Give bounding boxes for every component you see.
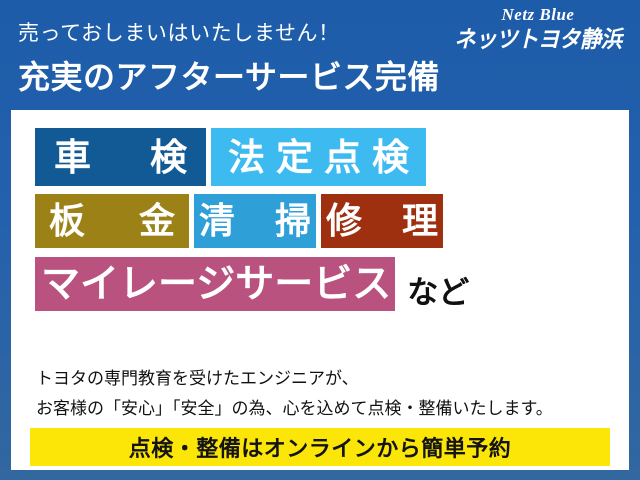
logo-brand-jp: ネッツトヨタ静浜 xyxy=(454,28,621,51)
body-copy-line-2: お客様の「安心」「安全」の為、心を込めて点検・整備いたします。 xyxy=(36,398,611,419)
logo-brand-en: Netz Blue xyxy=(448,6,628,23)
service-badge-seiso: 清 掃 xyxy=(194,194,316,248)
service-badge-row: 板 金 清 掃 修 理 xyxy=(35,194,629,248)
dealer-logo: Netz Blue ネッツトヨタ静浜 xyxy=(448,6,628,51)
service-badge-row: 車 検 法定点検 xyxy=(35,128,629,186)
service-badge-mileage-service: マイレージサービス xyxy=(35,257,395,311)
service-badge-row: マイレージサービス など xyxy=(35,257,629,311)
content-card: 車 検 法定点検 板 金 清 掃 修 理 マイレージサービス など トヨタの専門… xyxy=(11,110,629,470)
service-badge-shuri: 修 理 xyxy=(321,194,443,248)
service-badge-bankin: 板 金 xyxy=(35,194,189,248)
advertisement-banner: 売っておしまいはいたしません！ 充実のアフターサービス完備 Netz Blue … xyxy=(0,0,640,480)
online-reservation-cta-label: 点検・整備はオンラインから簡単予約 xyxy=(129,431,512,463)
header-band: 売っておしまいはいたしません！ 充実のアフターサービス完備 Netz Blue … xyxy=(0,0,640,108)
body-copy-line-1: トヨタの専門教育を受けたエンジニアが、 xyxy=(36,368,611,389)
service-badge-hotei-tenken: 法定点検 xyxy=(211,128,426,186)
service-badge-list: 車 検 法定点検 板 金 清 掃 修 理 マイレージサービス など xyxy=(11,110,629,311)
online-reservation-cta[interactable]: 点検・整備はオンラインから簡単予約 xyxy=(30,428,610,466)
header-headline: 充実のアフターサービス完備 xyxy=(18,52,440,98)
body-copy: トヨタの専門教育を受けたエンジニアが、 お客様の「安心」「安全」の為、心を込めて… xyxy=(36,368,611,429)
service-badge-suffix-nado: など xyxy=(407,277,469,311)
service-badge-shaken: 車 検 xyxy=(35,128,206,186)
header-tagline: 売っておしまいはいたしません！ xyxy=(18,17,340,47)
